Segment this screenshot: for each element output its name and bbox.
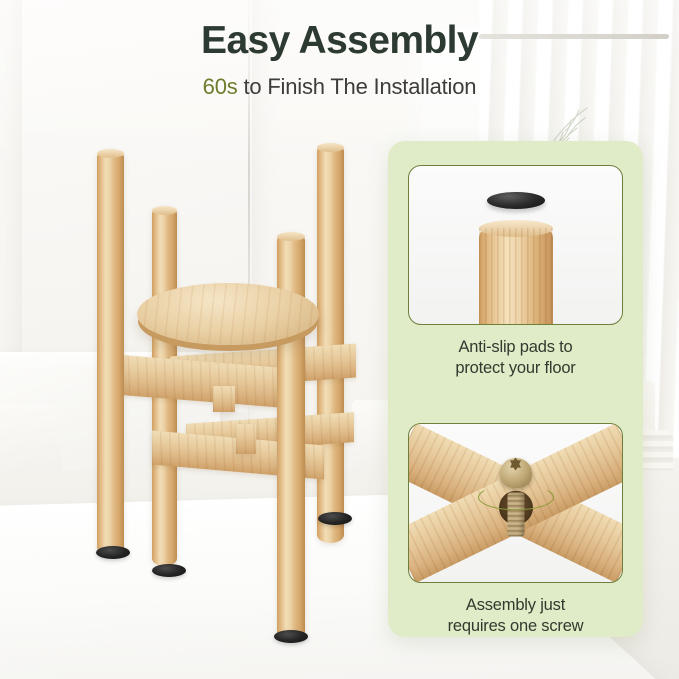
feature-panel: Anti-slip pads to protect your floor xyxy=(388,141,643,637)
stand-foot-front-left xyxy=(96,546,130,559)
stand-lower-rail-notch xyxy=(236,424,256,454)
stand-foot-back-left xyxy=(152,564,186,577)
page-title: Easy Assembly xyxy=(0,20,679,62)
product-marketing-image: Easy Assembly 60s to Finish The Installa… xyxy=(0,0,679,679)
caption-line-2: protect your floor xyxy=(396,358,635,379)
caption-line-1: Assembly just xyxy=(396,595,635,616)
rotation-arrow-icon xyxy=(478,484,554,510)
headline-block: Easy Assembly 60s to Finish The Installa… xyxy=(0,20,679,100)
stand-foot-back-right xyxy=(318,512,352,525)
cross-lap-joint-illustration xyxy=(409,424,622,582)
caption-line-1: Anti-slip pads to xyxy=(396,337,635,358)
stand-leg-back-right xyxy=(317,143,344,543)
feature-caption-anti-slip: Anti-slip pads to protect your floor xyxy=(396,337,635,379)
stand-leg-front-left xyxy=(97,149,124,555)
rail-wood-grain xyxy=(236,424,256,454)
page-subtitle: 60s to Finish The Installation xyxy=(0,74,679,100)
rail-wood-grain xyxy=(213,386,235,412)
caption-line-2: requires one screw xyxy=(396,616,635,637)
shelf-wood-grain xyxy=(137,283,319,345)
feature-card-anti-slip-pads xyxy=(408,165,623,325)
leg-wood-grain xyxy=(479,228,553,325)
feature-card-one-screw xyxy=(408,423,623,583)
bamboo-leg-illustration xyxy=(479,228,553,325)
feature-caption-one-screw: Assembly just requires one screw xyxy=(396,595,635,637)
stand-foot-front-right xyxy=(274,630,308,643)
stand-upper-rail-notch xyxy=(213,386,235,412)
subtitle-highlight: 60s xyxy=(203,74,238,99)
torx-socket-icon xyxy=(509,458,522,471)
screw-head xyxy=(500,458,532,488)
subtitle-rest: to Finish The Installation xyxy=(238,74,477,99)
anti-slip-pad-icon xyxy=(487,192,545,209)
stand-top-shelf xyxy=(137,283,319,345)
